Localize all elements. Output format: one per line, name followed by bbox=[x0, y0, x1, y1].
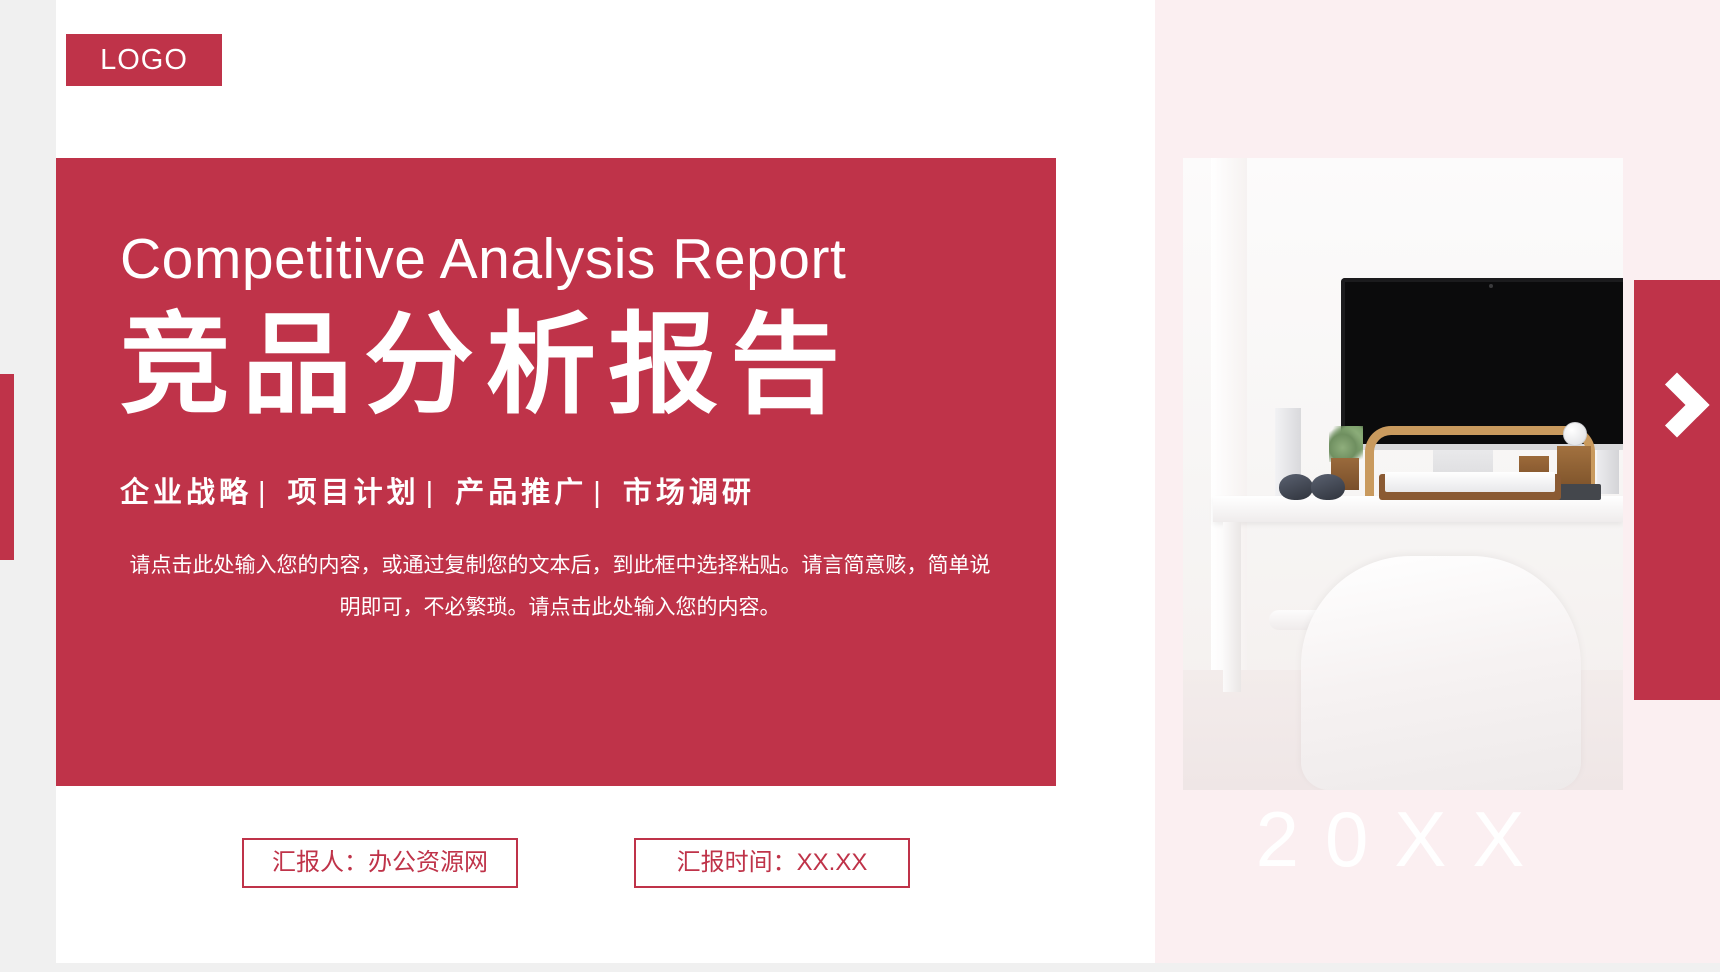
photo-desk-leg bbox=[1223, 522, 1241, 692]
next-slide-band[interactable] bbox=[1634, 280, 1720, 700]
subtitle-separator-0: | bbox=[252, 477, 276, 509]
slide-canvas: LOGO Competitive Analysis Report 竞品分析报告 … bbox=[0, 0, 1720, 963]
presenter-badge[interactable]: 汇报人：办公资源网 bbox=[242, 838, 518, 888]
chevron-right-icon[interactable] bbox=[1644, 372, 1709, 437]
subtitle-keywords: 企业战略| 项目计划| 产品推广| 市场调研 bbox=[120, 469, 996, 511]
subtitle-separator-1: | bbox=[420, 477, 444, 509]
photo-monitor-camera bbox=[1489, 284, 1493, 288]
photo-keyboard bbox=[1385, 472, 1555, 492]
workspace-photo bbox=[1183, 158, 1623, 790]
body-paragraph: 请点击此处输入您的内容，或通过复制您的文本后，到此框中选择粘贴。请言简意赅，简单… bbox=[120, 545, 1000, 629]
photo-wooden-box-2 bbox=[1557, 446, 1591, 486]
subtitle-item-2: 产品推广 bbox=[455, 477, 587, 509]
photo-headphone-cup-left bbox=[1279, 474, 1313, 500]
footer-meta-row: 汇报人：办公资源网 汇报时间：XX.XX bbox=[56, 838, 1056, 898]
title-english: Competitive Analysis Report bbox=[120, 230, 996, 290]
subtitle-item-3: 市场调研 bbox=[623, 477, 755, 509]
logo-badge[interactable]: LOGO bbox=[66, 34, 222, 86]
title-block: Competitive Analysis Report 竞品分析报告 企业战略|… bbox=[56, 158, 1056, 786]
photo-headphone-cup-right bbox=[1311, 474, 1345, 500]
photo-chair bbox=[1301, 556, 1581, 790]
left-edge-accent-bar bbox=[0, 374, 14, 560]
photo-plant-leaves bbox=[1329, 426, 1363, 462]
report-date-badge[interactable]: 汇报时间：XX.XX bbox=[634, 838, 910, 888]
year-watermark: 20XX bbox=[1183, 800, 1623, 878]
subtitle-separator-2: | bbox=[587, 477, 611, 509]
subtitle-item-0: 企业战略 bbox=[120, 477, 252, 509]
title-chinese: 竞品分析报告 bbox=[120, 296, 996, 437]
subtitle-item-1: 项目计划 bbox=[288, 477, 420, 509]
photo-desk-lamp bbox=[1563, 422, 1587, 446]
